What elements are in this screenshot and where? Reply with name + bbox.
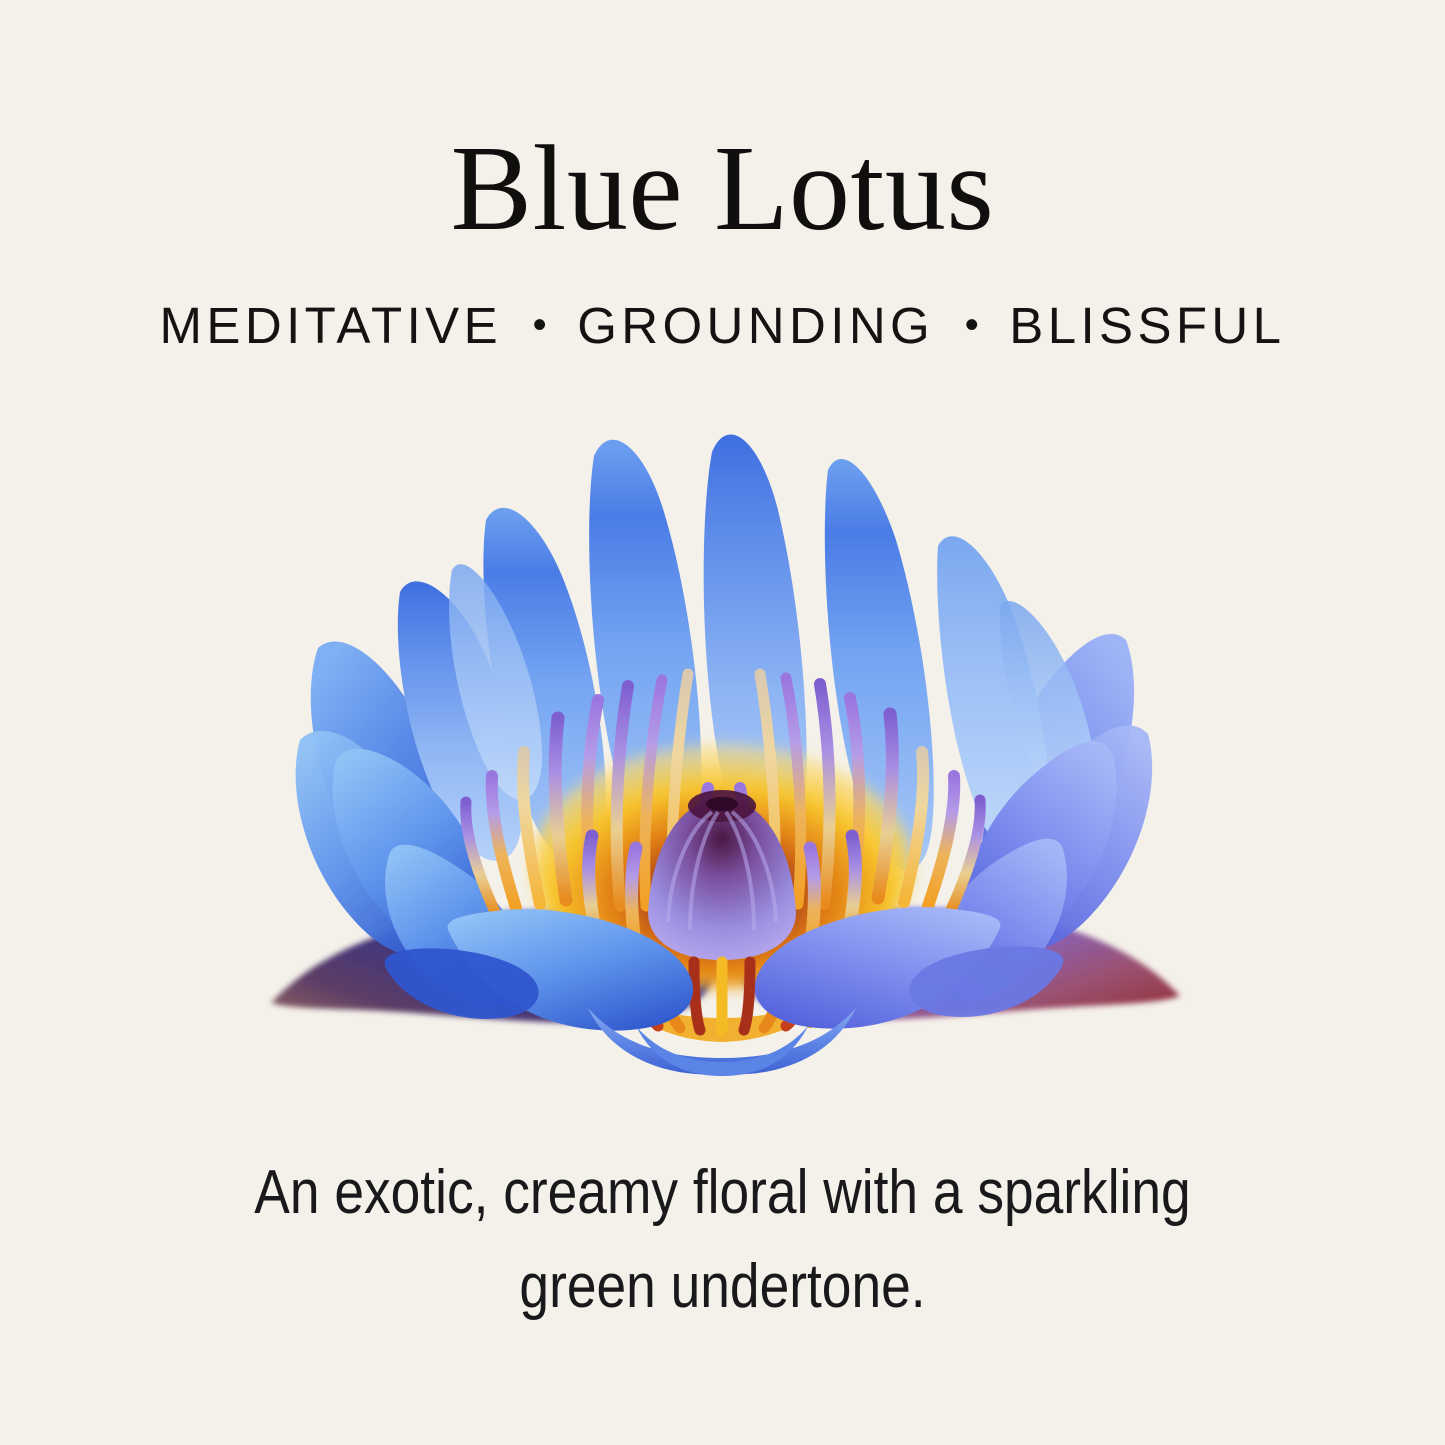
outer-sepals [271,908,1180,1023]
flower-center-cone [648,790,796,960]
page-title: Blue Lotus [0,128,1445,250]
petal-ring-back [296,634,1153,956]
scent-description: An exotic, creamy floral with a sparklin… [196,1146,1250,1334]
scent-attribute-grounding: GROUNDING [577,297,934,354]
petals-foreground-accents [385,946,1064,1019]
petals-mid [333,741,1117,1005]
stamens [466,674,980,952]
bullet-separator-icon: • [521,303,559,348]
bullet-separator-icon: • [953,303,991,348]
product-scent-card: Blue Lotus MEDITATIVE • GROUNDING • BLIS… [0,0,1445,1445]
petals-top [398,435,1095,874]
scent-attribute-meditative: MEDITATIVE [160,297,502,354]
stamen-skirt [560,920,884,1042]
scent-attribute-blissful: BLISSFUL [1009,297,1285,354]
petals-front [448,907,1001,1076]
scent-description-line-2: green undertone. [519,1252,925,1321]
scent-attribute-list: MEDITATIVE • GROUNDING • BLISSFUL [0,296,1445,355]
flower-core-glow [532,744,912,988]
scent-description-line-1: An exotic, creamy floral with a sparklin… [254,1158,1190,1227]
